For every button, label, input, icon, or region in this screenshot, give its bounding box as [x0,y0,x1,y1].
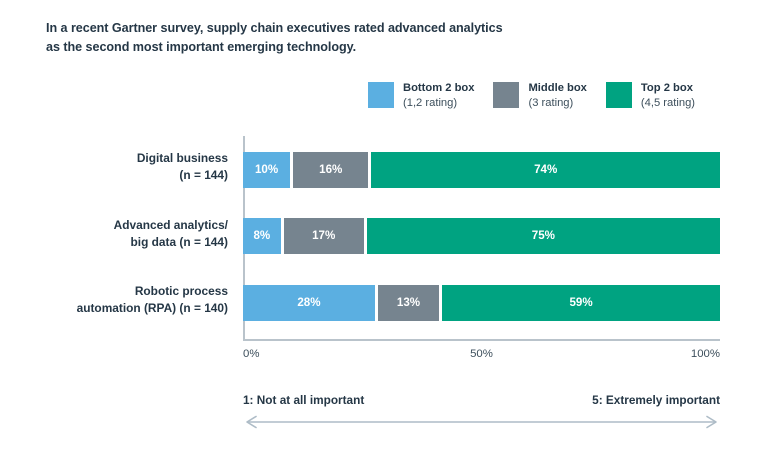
table-row: 8% 17% 75% [243,218,720,254]
chart-title-line-1: In a recent Gartner survey, supply chain… [46,19,686,38]
table-row: 10% 16% 74% [243,152,720,188]
category-label-line-1: Robotic process [0,283,228,300]
category-label-digital-business: Digital business (n = 144) [0,150,228,183]
scale-double-arrow-icon [243,415,720,429]
y-axis-category-labels: Digital business (n = 144) Advanced anal… [0,136,228,340]
legend-swatch-icon-top-2-box [606,82,632,108]
chart-legend: Bottom 2 box (1,2 rating) Middle box (3 … [368,81,695,110]
bar-value-label: 17% [312,230,335,242]
legend-label-line-1: Top 2 box [641,81,695,96]
bar-segment-top-2-box[interactable]: 75% [367,218,720,254]
bar-segment-middle-box[interactable]: 17% [284,218,364,254]
bar-value-label: 8% [253,230,270,242]
category-label-line-1: Digital business [0,150,228,167]
bar-value-label: 10% [255,164,278,176]
bar-segment-bottom-2-box[interactable]: 8% [243,218,281,254]
bar-value-label: 74% [534,164,557,176]
bar-segment-middle-box[interactable]: 13% [378,285,439,321]
bar-segment-bottom-2-box[interactable]: 10% [243,152,290,188]
chart-title-line-2: as the second most important emerging te… [46,38,686,57]
legend-swatch-icon-middle-box [493,82,519,108]
x-axis-line [243,339,720,341]
legend-item-bottom-2-box: Bottom 2 box (1,2 rating) [368,81,474,110]
table-row: 28% 13% 59% [243,285,720,321]
bar-value-label: 75% [532,230,555,242]
scale-annotation-captions: 1: Not at all important 5: Extremely imp… [243,393,720,409]
legend-label-line-1: Bottom 2 box [403,81,474,96]
legend-label-line-2: (1,2 rating) [403,96,474,111]
legend-item-top-2-box: Top 2 box (4,5 rating) [606,81,695,110]
legend-label-line-1: Middle box [528,81,586,96]
legend-label-top-2-box: Top 2 box (4,5 rating) [641,81,695,110]
category-label-robotic-process-automation: Robotic process automation (RPA) (n = 14… [0,283,228,316]
legend-label-line-2: (4,5 rating) [641,96,695,111]
bar-segment-middle-box[interactable]: 16% [293,152,368,188]
category-label-line-2: (n = 144) [0,167,228,184]
legend-label-line-2: (3 rating) [528,96,586,111]
x-axis-tick-100: 100% [691,348,720,360]
legend-label-bottom-2-box: Bottom 2 box (1,2 rating) [403,81,474,110]
bar-value-label: 16% [319,164,342,176]
bar-segment-top-2-box[interactable]: 74% [371,152,720,188]
bar-value-label: 13% [397,297,420,309]
category-label-advanced-analytics: Advanced analytics/ big data (n = 144) [0,217,228,250]
chart-container: In a recent Gartner survey, supply chain… [0,0,768,450]
legend-swatch-icon-bottom-2-box [368,82,394,108]
x-axis-tick-labels: 0% 50% 100% [243,348,720,364]
category-label-line-2: automation (RPA) (n = 140) [0,300,228,317]
chart-title: In a recent Gartner survey, supply chain… [46,19,686,57]
x-axis-tick-0: 0% [243,348,259,360]
bar-value-label: 59% [569,297,592,309]
bar-segment-top-2-box[interactable]: 59% [442,285,720,321]
category-label-line-2: big data (n = 144) [0,234,228,251]
category-label-line-1: Advanced analytics/ [0,217,228,234]
scale-caption-right: 5: Extremely important [592,393,720,407]
x-axis-tick-50: 50% [470,348,493,360]
legend-label-middle-box: Middle box (3 rating) [528,81,586,110]
bar-segment-bottom-2-box[interactable]: 28% [243,285,375,321]
plot-area: 10% 16% 74% 8% 17% 75% 28% [243,136,720,340]
scale-caption-left: 1: Not at all important [243,393,364,407]
legend-item-middle-box: Middle box (3 rating) [493,81,586,110]
bar-value-label: 28% [297,297,320,309]
